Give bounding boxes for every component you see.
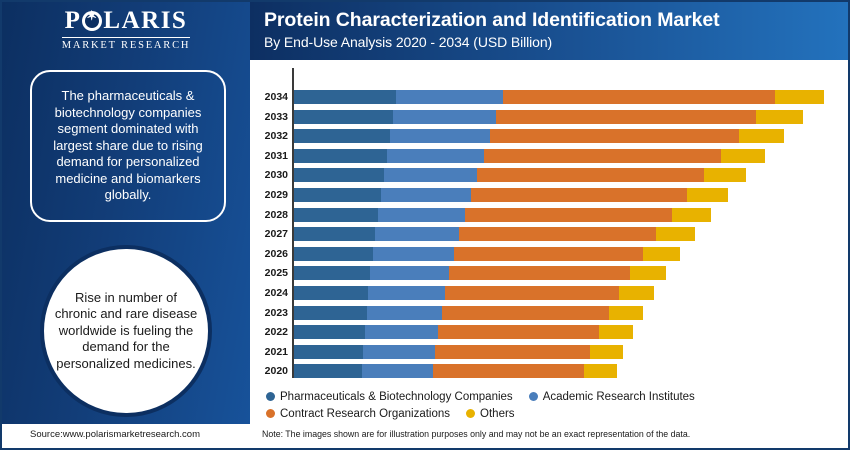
bar-track xyxy=(294,345,848,359)
disclaimer-note: Note: The images shown are for illustrat… xyxy=(262,429,690,439)
year-axis-label: 2022 xyxy=(250,323,288,341)
bar-segment-1 xyxy=(294,188,381,202)
bar-row: 2033 xyxy=(250,108,848,126)
bar-segment-4 xyxy=(630,266,666,280)
bar-track xyxy=(294,306,848,320)
bar-track xyxy=(294,188,848,202)
year-axis-label: 2029 xyxy=(250,186,288,204)
legend-label: Pharmaceuticals & Biotechnology Companie… xyxy=(280,391,513,403)
bar-row: 2030 xyxy=(250,166,848,184)
bar-segment-4 xyxy=(721,149,765,163)
bar-segment-2 xyxy=(370,266,449,280)
callout-circle: Rise in number of chronic and rare disea… xyxy=(40,245,212,417)
bar-track xyxy=(294,90,848,104)
bar-segment-3 xyxy=(477,168,704,182)
bar-segment-2 xyxy=(393,110,496,124)
bar-segment-4 xyxy=(739,129,784,143)
bar-row: 2027 xyxy=(250,225,848,243)
legend-swatch-icon xyxy=(466,409,475,418)
year-axis-label: 2027 xyxy=(250,225,288,243)
footer-bar: Source:www.polarismarketresearch.com Not… xyxy=(2,424,848,448)
bar-segment-4 xyxy=(584,364,617,378)
bar-segment-1 xyxy=(294,149,387,163)
bar-segment-1 xyxy=(294,325,365,339)
bar-segment-4 xyxy=(599,325,633,339)
bar-segment-4 xyxy=(687,188,728,202)
bar-segment-2 xyxy=(387,149,484,163)
bar-segment-3 xyxy=(435,345,590,359)
logo-text-pre: P xyxy=(65,8,82,34)
bar-segment-4 xyxy=(672,208,711,222)
bar-row: 2024 xyxy=(250,284,848,302)
bar-track xyxy=(294,325,848,339)
bar-track xyxy=(294,227,848,241)
bar-segment-1 xyxy=(294,110,393,124)
bar-segment-1 xyxy=(294,90,396,104)
bar-segment-4 xyxy=(756,110,803,124)
bar-segment-2 xyxy=(378,208,465,222)
year-axis-label: 2021 xyxy=(250,343,288,361)
bar-track xyxy=(294,364,848,378)
bar-segment-3 xyxy=(454,247,643,261)
legend-swatch-icon xyxy=(266,409,275,418)
bar-segment-4 xyxy=(656,227,694,241)
year-axis-label: 2023 xyxy=(250,304,288,322)
bar-segment-2 xyxy=(381,188,471,202)
bar-track xyxy=(294,286,848,300)
bar-segment-1 xyxy=(294,345,363,359)
bar-segment-3 xyxy=(496,110,756,124)
page-subtitle: By End-Use Analysis 2020 - 2034 (USD Bil… xyxy=(264,32,848,52)
bar-segment-3 xyxy=(484,149,722,163)
bar-row: 2026 xyxy=(250,245,848,263)
bar-segment-2 xyxy=(390,129,490,143)
callout-box-text: The pharmaceuticals & biotechnology comp… xyxy=(42,88,214,204)
bar-track xyxy=(294,266,848,280)
bar-segment-3 xyxy=(503,90,775,104)
bar-segment-3 xyxy=(490,129,739,143)
bar-segment-4 xyxy=(643,247,680,261)
bar-segment-2 xyxy=(368,286,445,300)
bar-segment-2 xyxy=(384,168,477,182)
bar-segment-2 xyxy=(396,90,503,104)
bar-segment-4 xyxy=(775,90,824,104)
callout-circle-text: Rise in number of chronic and rare disea… xyxy=(54,290,198,373)
bar-row: 2031 xyxy=(250,147,848,165)
logo-divider xyxy=(62,37,190,38)
bar-track xyxy=(294,208,848,222)
year-axis-label: 2025 xyxy=(250,264,288,282)
year-axis-label: 2034 xyxy=(250,88,288,106)
bar-segment-1 xyxy=(294,208,378,222)
legend-row-1: Pharmaceuticals & Biotechnology Companie… xyxy=(266,388,841,405)
page-title: Protein Characterization and Identificat… xyxy=(264,8,848,32)
legend-label: Academic Research Institutes xyxy=(543,391,695,403)
legend-item[interactable]: Pharmaceuticals & Biotechnology Companie… xyxy=(266,391,513,403)
bar-segment-3 xyxy=(445,286,619,300)
legend-item[interactable]: Academic Research Institutes xyxy=(529,391,695,403)
legend-item[interactable]: Contract Research Organizations xyxy=(266,408,450,420)
bar-track xyxy=(294,129,848,143)
bar-segment-2 xyxy=(367,306,442,320)
legend-item[interactable]: Others xyxy=(466,408,515,420)
bar-segment-4 xyxy=(590,345,623,359)
bar-segment-3 xyxy=(449,266,630,280)
bar-segment-4 xyxy=(704,168,746,182)
bar-segment-1 xyxy=(294,306,367,320)
bar-segment-1 xyxy=(294,129,390,143)
callout-box: The pharmaceuticals & biotechnology comp… xyxy=(30,70,226,222)
legend-swatch-icon xyxy=(529,392,538,401)
bar-track xyxy=(294,149,848,163)
bar-segment-3 xyxy=(465,208,672,222)
chart-header: Protein Characterization and Identificat… xyxy=(250,2,848,60)
bar-segment-2 xyxy=(362,364,433,378)
logo-text-post: LARIS xyxy=(103,8,187,34)
year-axis-label: 2024 xyxy=(250,284,288,302)
stacked-bar-chart: 2034203320322031203020292028202720262025… xyxy=(250,66,848,382)
bar-track xyxy=(294,247,848,261)
legend-swatch-icon xyxy=(266,392,275,401)
bar-segment-4 xyxy=(619,286,654,300)
bar-segment-1 xyxy=(294,168,384,182)
legend-row-2: Contract Research OrganizationsOthers xyxy=(266,405,841,422)
bar-segment-3 xyxy=(438,325,599,339)
bar-segment-3 xyxy=(433,364,584,378)
bar-row: 2029 xyxy=(250,186,848,204)
bar-segment-4 xyxy=(609,306,643,320)
bar-track xyxy=(294,168,848,182)
year-axis-label: 2033 xyxy=(250,108,288,126)
legend-label: Others xyxy=(480,408,515,420)
bar-segment-2 xyxy=(363,345,435,359)
year-axis-label: 2026 xyxy=(250,245,288,263)
bar-segment-3 xyxy=(459,227,656,241)
logo-tagline: MARKET RESEARCH xyxy=(2,40,250,51)
bar-track xyxy=(294,110,848,124)
bar-segment-1 xyxy=(294,286,368,300)
bar-segment-2 xyxy=(365,325,438,339)
logo-wordmark: PLARIS xyxy=(65,8,188,34)
bar-row: 2020 xyxy=(250,362,848,380)
legend-label: Contract Research Organizations xyxy=(280,408,450,420)
bar-segment-1 xyxy=(294,227,375,241)
bar-row: 2021 xyxy=(250,343,848,361)
compass-star-icon xyxy=(82,11,102,31)
source-text: Source:www.polarismarketresearch.com xyxy=(30,429,200,440)
bar-segment-1 xyxy=(294,266,370,280)
year-axis-label: 2028 xyxy=(250,206,288,224)
chart-legend: Pharmaceuticals & Biotechnology Companie… xyxy=(266,388,841,422)
bar-segment-3 xyxy=(442,306,609,320)
year-axis-label: 2030 xyxy=(250,166,288,184)
sidebar-panel: PLARIS MARKET RESEARCH The pharmaceutica… xyxy=(2,2,250,424)
year-axis-label: 2032 xyxy=(250,127,288,145)
bar-segment-2 xyxy=(373,247,454,261)
year-axis-label: 2020 xyxy=(250,362,288,380)
bar-segment-3 xyxy=(471,188,688,202)
bar-row: 2023 xyxy=(250,304,848,322)
year-axis-label: 2031 xyxy=(250,147,288,165)
bar-row: 2025 xyxy=(250,264,848,282)
bar-row: 2032 xyxy=(250,127,848,145)
infographic-page: PLARIS MARKET RESEARCH The pharmaceutica… xyxy=(0,0,850,450)
bar-row: 2028 xyxy=(250,206,848,224)
bar-row: 2022 xyxy=(250,323,848,341)
bar-row: 2034 xyxy=(250,88,848,106)
bar-segment-1 xyxy=(294,364,362,378)
brand-logo: PLARIS MARKET RESEARCH xyxy=(2,8,250,51)
chart-container: 2034203320322031203020292028202720262025… xyxy=(250,60,848,424)
bar-segment-1 xyxy=(294,247,373,261)
bar-segment-2 xyxy=(375,227,459,241)
